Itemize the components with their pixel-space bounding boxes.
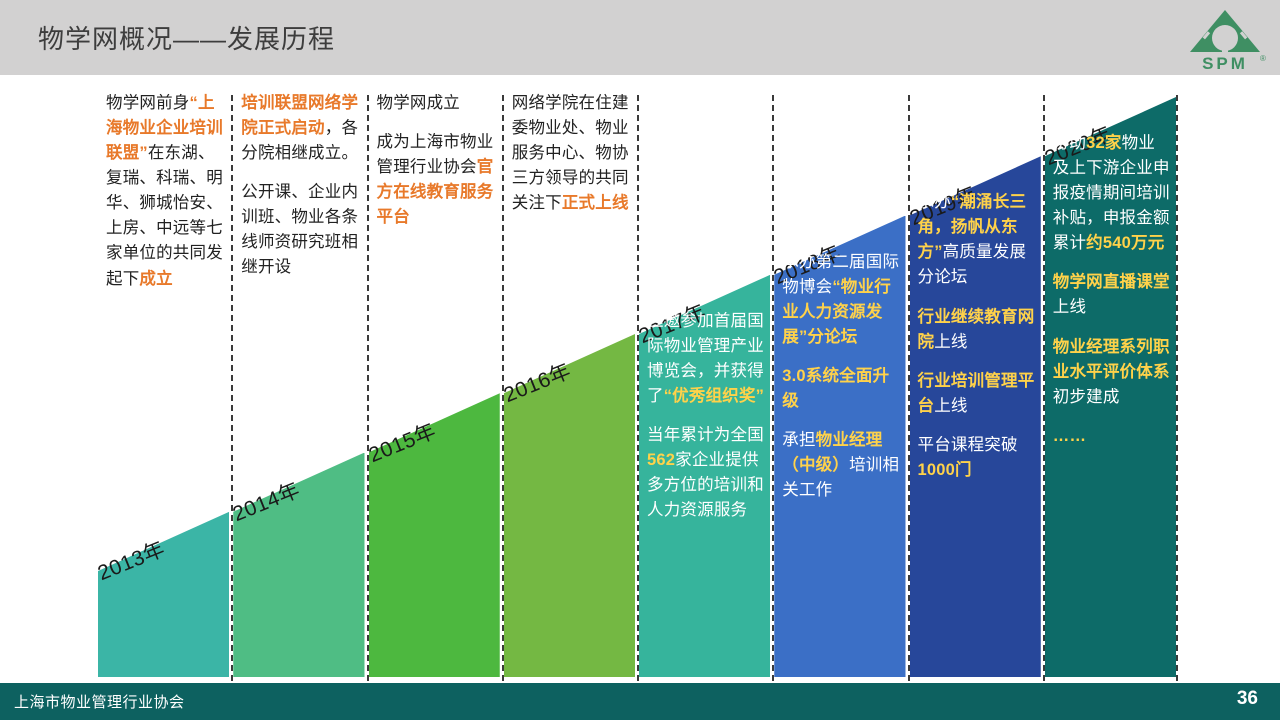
text-segment: 展”分论坛: [782, 328, 857, 346]
text-segment: 复瑞、科瑞、: [106, 169, 206, 187]
text-segment: 家: [675, 451, 692, 469]
timeline-paragraph: 当年累计为全国562家企业提供多方位的培训和人力资源服务: [647, 423, 764, 523]
text-segment: 启动: [291, 119, 324, 137]
timeline-column-2015[interactable]: 2015年物学网成立成为上海市物业管理行业协会官方在线教育服务平台: [367, 75, 502, 685]
text-segment: 承担: [782, 431, 815, 449]
text-segment: 约: [1086, 234, 1103, 252]
timeline-text: 承办“潮涌长三角，扬帆从东方”高质量发展分论坛行业继续教育网院上线行业培训管理平…: [918, 190, 1035, 483]
timeline-paragraph: 行业培训管理平台上线: [918, 369, 1035, 419]
text-segment: 物学网成立: [377, 94, 461, 112]
timeline-paragraph: 公开课、企业内训班、物业各条线师资研究班相继开设: [241, 180, 358, 280]
column-divider: [1176, 95, 1178, 681]
spm-logo-registered: ®: [1260, 54, 1266, 63]
text-segment: 业协会: [427, 158, 477, 176]
text-segment: 540万元: [1103, 234, 1165, 252]
timeline-paragraph: 承担物业经理（中级）培训相关工作: [782, 428, 899, 503]
timeline-paragraph: 物业经理系列职业水平评价体系初步建成: [1053, 335, 1170, 410]
text-segment: 方位的培训: [664, 476, 748, 494]
text-segment: 破: [1001, 436, 1018, 454]
timeline-column-2014[interactable]: 2014年培训联盟网络学院正式启动，各分院相继成立。公开课、企业内训班、物业各条…: [231, 75, 366, 685]
text-segment: 物: [1122, 134, 1139, 152]
timeline-text: 物学网成立成为上海市物业管理行业协会官方在线教育服务平台: [377, 91, 494, 230]
spm-logo-text: SPM: [1202, 54, 1248, 72]
text-segment: 应邀参加首: [647, 312, 731, 330]
timeline-chart: 2013年物学网前身“上海物业企业培训联盟”在东湖、复瑞、科瑞、明华、狮城怡安、…: [0, 75, 1280, 685]
text-segment: 3.0系统全: [782, 367, 856, 385]
timeline-paragraph: 网络学院在住建委物业处、物业服务中心、物协三方领导的共同关注下正式上线: [512, 91, 629, 216]
timeline-column-2016[interactable]: 2016年网络学院在住建委物业处、物业服务中心、物协三方领导的共同关注下正式上线: [502, 75, 637, 685]
timeline-text: 应邀参加首届国际物业管理产业博览会，并获得了“优秀组织奖”当年累计为全国562家…: [647, 309, 764, 524]
timeline-text: 培训联盟网络学院正式启动，各分院相继成立。公开课、企业内训班、物业各条线师资研究…: [241, 91, 358, 281]
text-segment: 单位的共同: [123, 244, 207, 262]
text-segment: 上线: [934, 397, 967, 415]
timeline-paragraph: 承办第二届国际物博会“物业行业人力资源发展”分论坛: [782, 250, 899, 350]
timeline-paragraph: 物学网直播课堂上线: [1053, 270, 1170, 320]
text-segment: 成立: [139, 270, 172, 288]
text-segment: 承办第二届: [782, 253, 866, 271]
text-segment: 协助: [1053, 134, 1086, 152]
timeline-paragraph: 应邀参加首届国际物业管理产业博览会，并获得了“优秀组织奖”: [647, 309, 764, 409]
timeline-column-2017[interactable]: 2017年应邀参加首届国际物业管理产业博览会，并获得了“优秀组织奖”当年累计为全…: [637, 75, 772, 685]
timeline-paragraph: 培训联盟网络学院正式启动，各分院相继成立。: [241, 91, 358, 166]
timeline-paragraph: 平台课程突破1000门: [918, 433, 1035, 483]
text-segment: “潮涌: [951, 193, 993, 211]
text-segment: 步建成: [1069, 388, 1119, 406]
timeline-column-2013[interactable]: 2013年物学网前身“上海物业企业培训联盟”在东湖、复瑞、科瑞、明华、狮城怡安、…: [96, 75, 231, 685]
timeline-paragraph: 物学网成立: [377, 91, 494, 116]
text-segment: ……: [1053, 427, 1086, 445]
text-segment: 物业经: [816, 431, 866, 449]
text-segment: 分论坛: [918, 268, 968, 286]
timeline-bar: [98, 512, 229, 677]
text-segment: 盟”: [123, 144, 148, 162]
text-segment: 组织奖”: [706, 387, 765, 405]
text-segment: 下: [545, 194, 562, 212]
footer-organization: 上海市物业管理行业协会: [14, 691, 185, 712]
text-segment: 务中心、物: [528, 144, 612, 162]
text-segment: 评价体系: [1103, 363, 1170, 381]
text-segment: 物学网直播: [1053, 273, 1137, 291]
timeline-paragraph: 行业继续教育网院上线: [918, 305, 1035, 355]
text-segment: 正式上线: [562, 194, 629, 212]
text-segment: 1000门: [918, 461, 972, 479]
timeline-bar-fill: [98, 512, 229, 677]
text-segment: 补贴，申报: [1053, 209, 1137, 227]
timeline-paragraph: 承办“潮涌长三角，扬帆从东方”高质量发展分论坛: [918, 190, 1035, 290]
timeline-bar: [233, 453, 364, 678]
timeline-text: 承办第二届国际物博会“物业行业人力资源发展”分论坛3.0系统全面升级承担物业经理…: [782, 250, 899, 504]
text-segment: 行业培训管: [918, 372, 1002, 390]
text-segment: 物学网前身: [106, 94, 190, 112]
text-segment: 初: [1053, 388, 1070, 406]
text-segment: 上线: [1053, 298, 1086, 316]
text-segment: 平台课程突: [918, 436, 1002, 454]
text-segment: 服务: [714, 501, 747, 519]
timeline-paragraph: ……: [1053, 424, 1170, 449]
text-segment: 览会，并获: [664, 362, 748, 380]
text-segment: 行业继续教: [918, 308, 1002, 326]
text-segment: 在线教育服: [393, 183, 477, 201]
timeline-column-2019[interactable]: 2019年承办“潮涌长三角，扬帆从东方”高质量发展分论坛行业继续教育网院上线行业…: [908, 75, 1043, 685]
text-segment: 承办: [918, 193, 951, 211]
text-segment: 高质量发展: [943, 243, 1027, 261]
text-segment: 人力资源发: [799, 303, 883, 321]
slide-footer: 上海市物业管理行业协会 36: [0, 685, 1280, 720]
slide-header: 物学网概况——发展历程 SPM ®: [0, 0, 1280, 75]
timeline-column-2020[interactable]: 2020年协助32家物业及上下游企业申报疫情期间培训补贴，申报金额累计约540万…: [1043, 75, 1178, 685]
text-segment: 上线: [934, 333, 967, 351]
timeline-text: 网络学院在住建委物业处、物业服务中心、物协三方领导的共同关注下正式上线: [512, 91, 629, 216]
text-segment: 师资研究班: [258, 233, 342, 251]
text-segment: 562: [647, 451, 675, 469]
text-segment: 全国: [731, 426, 764, 444]
text-segment: “优秀: [664, 387, 706, 405]
timeline-paragraph: 协助32家物业及上下游企业申报疫情期间培训补贴，申报金额累计约540万元: [1053, 131, 1170, 256]
page-title: 物学网概况——发展历程: [38, 19, 335, 56]
timeline-column-2018[interactable]: 2018年承办第二届国际物博会“物业行业人力资源发展”分论坛3.0系统全面升级承…: [772, 75, 907, 685]
page-number: 36: [1237, 688, 1258, 710]
text-segment: 物业经理系: [1053, 338, 1137, 356]
text-segment: 培训联盟网: [241, 94, 325, 112]
timeline-paragraph: 成为上海市物业管理行业协会官方在线教育服务平台: [377, 130, 494, 230]
text-segment: 情期间培训: [1086, 184, 1170, 202]
spm-logo-icon: SPM ®: [1182, 4, 1268, 72]
text-segment: 网络学院在: [512, 94, 596, 112]
text-segment: 公开课、企: [241, 183, 325, 201]
text-segment: 32家: [1086, 134, 1121, 152]
text-segment: 院相继成立。: [258, 144, 358, 162]
timeline-text: 协助32家物业及上下游企业申报疫情期间培训补贴，申报金额累计约540万元物学网直…: [1053, 131, 1170, 449]
text-segment: 作: [816, 481, 833, 499]
timeline-bar-fill: [233, 453, 364, 678]
text-segment: 课堂: [1136, 273, 1169, 291]
text-segment: 成为上海市: [377, 133, 461, 151]
timeline-text: 物学网前身“上海物业企业培训联盟”在东湖、复瑞、科瑞、明华、狮城怡安、上房、中远…: [106, 91, 223, 292]
text-segment: 当年累计为: [647, 426, 731, 444]
timeline-paragraph: 3.0系统全面升级: [782, 364, 899, 414]
timeline-paragraph: 物学网前身“上海物业企业培训联盟”在东湖、复瑞、科瑞、明华、狮城怡安、上房、中远…: [106, 91, 223, 292]
text-segment: 在东湖、: [148, 144, 215, 162]
spm-logo: SPM ®: [1182, 4, 1268, 72]
